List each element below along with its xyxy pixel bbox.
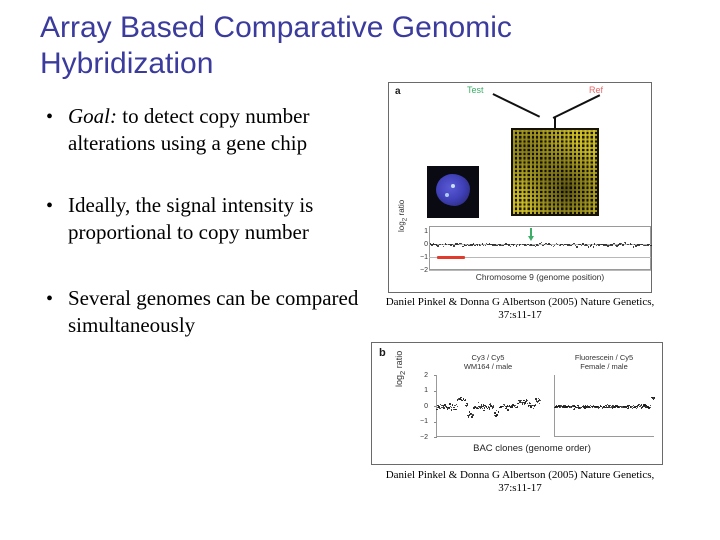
bullet-marker: • (46, 104, 53, 130)
data-point (618, 244, 619, 245)
y-axis-label: log2 ratio (397, 188, 409, 232)
y-tick-label: −2 (418, 267, 428, 274)
y-schematic-left-arm (493, 93, 540, 117)
bullet-text: Goal: to detect copy number alterations … (68, 104, 309, 155)
y-tick-label: −1 (418, 254, 428, 261)
figure-panel-b: b log2 ratio 210−1−2 Cy3 / Cy5 WM164 / m… (371, 342, 663, 465)
y-tick-label: −1 (416, 418, 428, 425)
data-point (622, 244, 623, 245)
y-tick-label: 1 (418, 228, 428, 235)
panel-letter-a: a (395, 86, 401, 97)
data-point (462, 246, 463, 247)
bullet-text: Several genomes can be compared simultan… (68, 286, 358, 337)
nucleus-image (427, 166, 479, 218)
x-axis-label: BAC clones (genome order) (412, 443, 652, 454)
y-schematic-right-arm (553, 94, 600, 118)
data-point (627, 408, 628, 409)
bullet-marker: • (46, 286, 53, 312)
data-point (653, 398, 654, 399)
y-tick-label: 1 (416, 387, 428, 394)
data-point (460, 397, 461, 398)
list-item: • Goal: to detect copy number alteration… (38, 103, 358, 156)
panel-b-right-plot: Fluorescein / Cy5 Female / male (554, 375, 654, 437)
data-point (525, 401, 526, 402)
data-point (530, 406, 531, 407)
data-point (522, 403, 523, 404)
data-point (471, 416, 472, 417)
green-arrow-shaft (530, 228, 532, 236)
y-tick-label: 0 (416, 403, 428, 410)
slide-canvas: Array Based Comparative Genomic Hybridiz… (0, 0, 720, 540)
data-point (650, 407, 651, 408)
data-point (484, 407, 485, 408)
bullet-lead: Goal: (68, 104, 117, 128)
data-point (612, 244, 613, 245)
label-test: Test (467, 85, 484, 95)
bullet-text: Ideally, the signal intensity is proport… (68, 193, 313, 244)
page-title: Array Based Comparative Genomic Hybridiz… (40, 10, 640, 82)
plot-frame (429, 226, 651, 270)
data-point (533, 408, 534, 409)
nucleus-blob (436, 174, 470, 206)
fish-signal-spot (445, 193, 449, 197)
data-point (581, 245, 582, 246)
microarray-image (511, 128, 599, 216)
data-point (576, 246, 577, 247)
bullet-marker: • (46, 193, 53, 219)
data-point (489, 408, 490, 409)
panel-letter-b: b (379, 347, 386, 359)
plot-subtitle: WM164 / male (436, 362, 540, 371)
plot-header-left: Cy3 / Cy5 WM164 / male (436, 353, 540, 371)
data-point (437, 245, 438, 246)
y-tick-label: 2 (416, 372, 428, 379)
data-point (650, 245, 651, 246)
list-item: • Ideally, the signal intensity is propo… (38, 192, 358, 245)
figure-b-caption: Daniel Pinkel & Donna G Albertson (2005)… (385, 469, 655, 495)
y-tick-label: −2 (416, 434, 428, 441)
y-axis-label: log2 ratio (394, 351, 407, 387)
list-item: • Several genomes can be compared simult… (38, 285, 408, 338)
microarray-shading (511, 128, 599, 216)
data-point (505, 408, 506, 409)
y-tick-mark (434, 437, 437, 438)
data-point (510, 246, 511, 247)
bullet-list: • Goal: to detect copy number alteration… (38, 103, 358, 364)
data-point (453, 407, 454, 408)
y-tick-label: 0 (418, 241, 428, 248)
data-point (483, 410, 484, 411)
deletion-segment (437, 256, 465, 259)
plot-header-right: Fluorescein / Cy5 Female / male (554, 353, 654, 371)
panel-b-left-plot: Cy3 / Cy5 WM164 / male (436, 375, 540, 437)
data-point (654, 397, 655, 398)
x-axis-label: Chromosome 9 (genome position) (429, 272, 651, 282)
data-point (485, 245, 486, 246)
data-point (593, 246, 594, 247)
figure-panel-a: a Test Ref log2 ratio 10−1−2 Chromosome … (388, 82, 652, 293)
plot-title: Cy3 / Cy5 (436, 353, 540, 362)
data-point (451, 409, 452, 410)
data-point (449, 403, 450, 404)
data-point (633, 246, 634, 247)
data-point (507, 409, 508, 410)
label-ref: Ref (589, 85, 603, 95)
data-point (573, 243, 574, 244)
plot-title: Fluorescein / Cy5 (554, 353, 654, 362)
plot-subtitle: Female / male (554, 362, 654, 371)
data-point (436, 409, 437, 410)
fish-signal-spot (451, 184, 455, 188)
data-point (516, 245, 517, 246)
gridline (429, 270, 651, 271)
panel-a-plot: log2 ratio 10−1−2 Chromosome 9 (genome p… (429, 226, 651, 270)
green-arrow-head (528, 236, 534, 241)
data-point (453, 245, 454, 246)
figure-a-caption: Daniel Pinkel & Donna G Albertson (2005)… (385, 296, 655, 322)
data-point (540, 400, 541, 401)
